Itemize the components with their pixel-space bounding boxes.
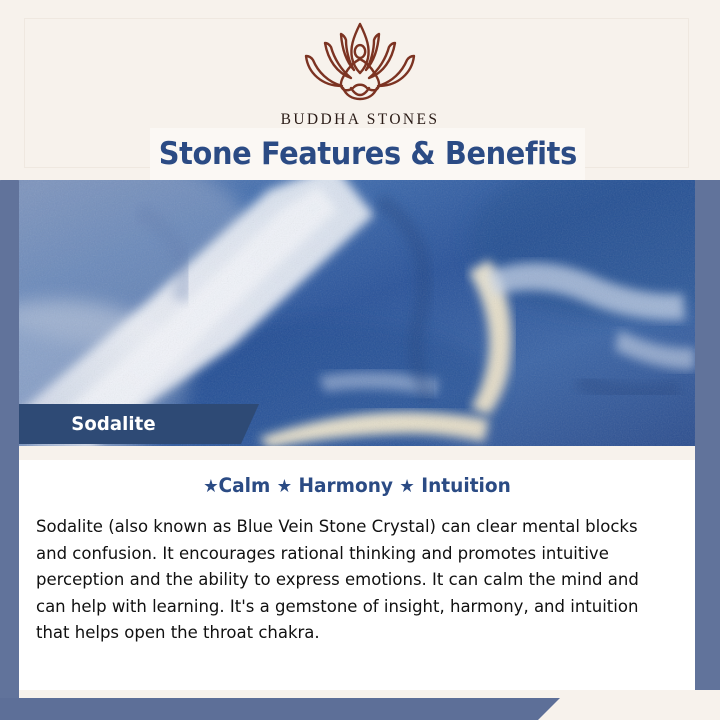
keyword-intuition: Intuition (421, 474, 511, 497)
keyword-harmony: Harmony (299, 474, 393, 497)
page-title: Stone Features & Benefits (158, 136, 576, 172)
star-icon: ★ (399, 476, 414, 497)
decor-band-bottom (0, 698, 560, 720)
keyword-calm: Calm (219, 474, 271, 497)
lotus-meditation-icon (284, 18, 436, 110)
star-icon: ★ (203, 476, 218, 497)
stone-name-banner: Sodalite (19, 404, 259, 444)
decor-panel-strip (19, 446, 695, 460)
card-header: BUDDHA STONES Stone Features & Benefits (0, 0, 720, 180)
stone-description: Sodalite (also known as Blue Vein Stone … (36, 514, 657, 647)
stone-keywords: ★Calm ★ Harmony ★ Intuition (36, 474, 678, 497)
stone-details-panel: ★Calm ★ Harmony ★ Intuition Sodalite (al… (19, 446, 695, 690)
decor-edge-left (0, 172, 19, 700)
stone-info-card: BUDDHA STONES Stone Features & Benefits (0, 0, 720, 720)
star-icon: ★ (277, 476, 292, 497)
stone-name: Sodalite (71, 413, 156, 435)
brand-name: BUDDHA STONES (0, 111, 720, 129)
page-title-box: Stone Features & Benefits (150, 128, 585, 180)
brand-logo: BUDDHA STONES (0, 18, 720, 129)
